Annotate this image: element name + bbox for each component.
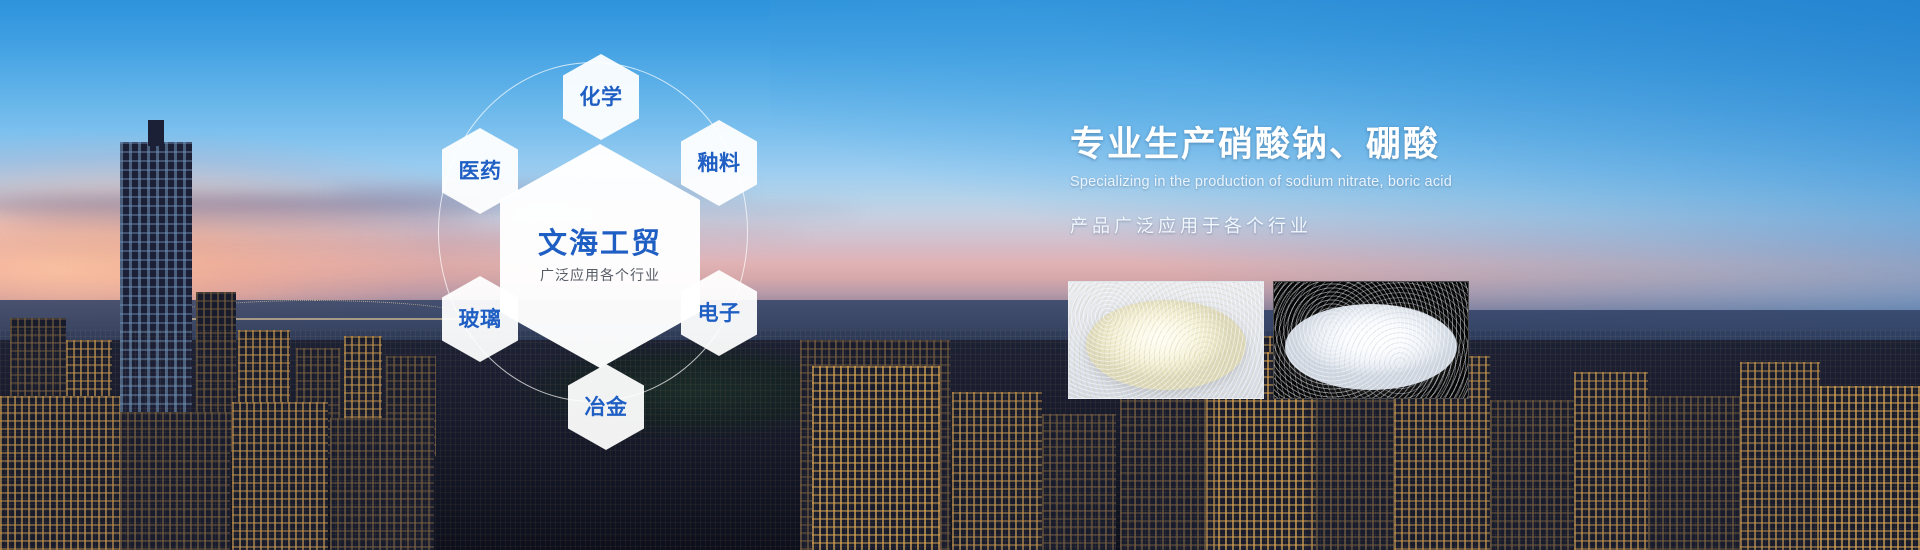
hex-node-label: 玻璃 <box>459 309 502 330</box>
hex-node-label: 冶金 <box>585 397 628 418</box>
powder-grain-texture <box>1274 282 1468 398</box>
brand-subtitle: 广泛应用各个行业 <box>540 268 660 282</box>
headline: 专业生产硝酸钠、硼酸 <box>1070 125 1850 165</box>
hex-node-label: 釉料 <box>698 153 741 174</box>
skyscraper-spire <box>148 120 164 146</box>
city-skyline-background <box>0 0 1920 550</box>
promo-banner: 化学 釉料 医药 玻璃 电子 冶金 文海工贸 广泛应用各个行业 专业生产硝酸钠、… <box>0 0 1920 550</box>
hex-node-label: 电子 <box>698 303 741 324</box>
industry-hex-diagram: 化学 釉料 医药 玻璃 电子 冶金 文海工贸 广泛应用各个行业 <box>420 22 780 442</box>
hex-node-label: 化学 <box>580 87 623 108</box>
product-photo-group <box>1068 281 1469 399</box>
product-photo-boric-acid[interactable] <box>1273 281 1469 399</box>
powder-grain-texture <box>1069 282 1263 398</box>
headline-english-subtitle: Specializing in the production of sodium… <box>1070 174 1850 191</box>
city-light-haze <box>0 330 1920 550</box>
tagline: 产品广泛应用于各个行业 <box>1070 216 1850 238</box>
product-photo-sodium-nitrate[interactable] <box>1068 281 1264 399</box>
hex-node-label: 医药 <box>459 161 502 182</box>
brand-name: 文海工贸 <box>538 230 662 259</box>
cloud-streak <box>10 215 480 228</box>
banner-copy: 专业生产硝酸钠、硼酸 Specializing in the productio… <box>1070 125 1850 237</box>
